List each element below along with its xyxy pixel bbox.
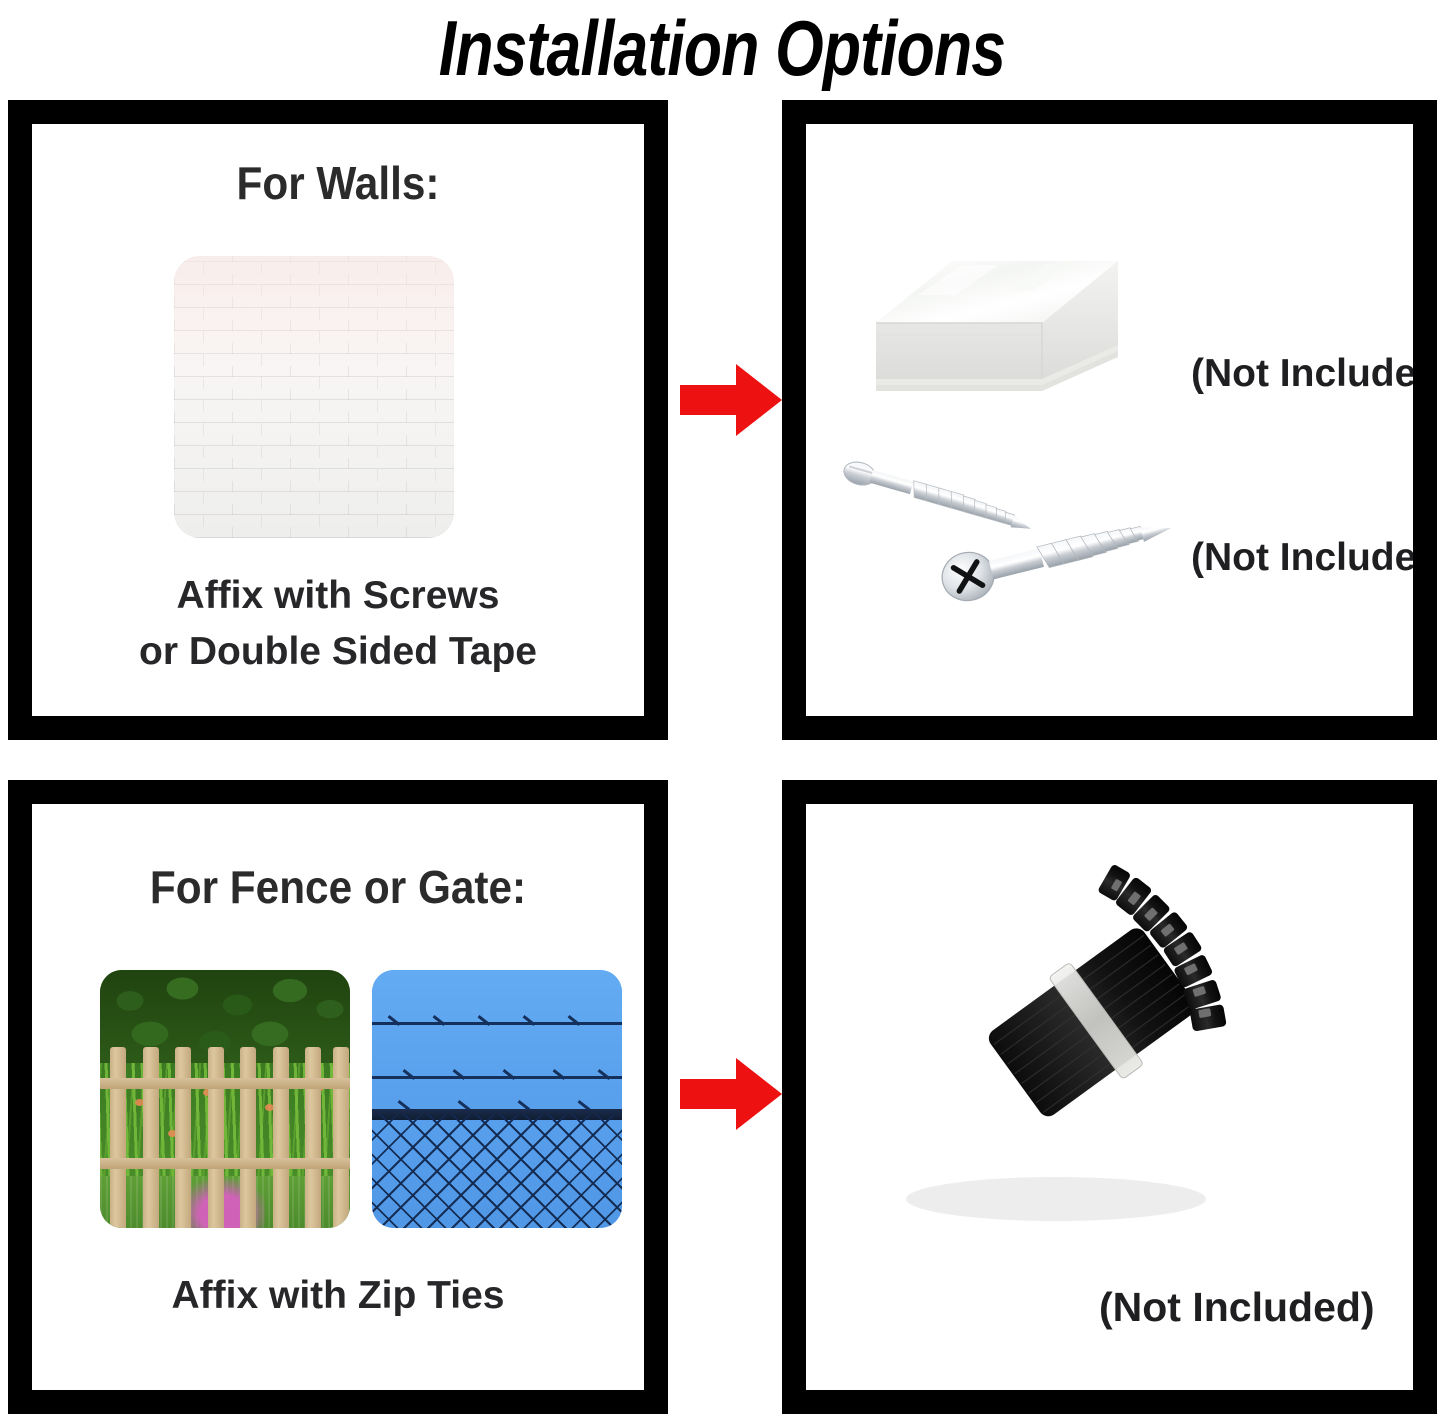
caption-affix-zip-ties: Affix with Zip Ties <box>32 1274 644 1318</box>
caption-affix-screws: Affix with Screws <box>32 574 644 618</box>
wall-warm-highlight <box>174 256 454 369</box>
fence-picket <box>333 1047 349 1228</box>
black-zip-ties-bundle-icon <box>856 859 1286 1259</box>
panel-for-walls: For Walls: Affix with Screws or Double S… <box>8 100 668 740</box>
barbed-wire-chain-link-fence-photo <box>372 970 622 1228</box>
wood-screw-icon-1 <box>841 454 1076 534</box>
page-title: Installation Options <box>439 9 1005 87</box>
fence-rail-lower <box>100 1158 350 1169</box>
panel-for-fence-content: For Fence or Gate: <box>32 804 644 1390</box>
heading-for-fence-or-gate: For Fence or Gate: <box>56 860 619 914</box>
label-tape-not-included: (Not Included) <box>1191 352 1413 396</box>
fence-picket <box>273 1047 289 1228</box>
wooden-picket-fence-photo <box>100 970 350 1228</box>
white-brick-wall-swatch <box>174 256 454 538</box>
panel-fence-hardware: (Not Included) <box>782 780 1437 1414</box>
arrow-fence-to-parts-icon <box>676 1052 786 1136</box>
double-sided-tape-stack-icon <box>866 239 1136 414</box>
fence-picket <box>240 1047 256 1228</box>
panel-for-walls-content: For Walls: Affix with Screws or Double S… <box>32 124 644 716</box>
fence-picket <box>143 1047 159 1228</box>
fence-rail-upper <box>100 1078 350 1089</box>
panel-for-fence-or-gate: For Fence or Gate: <box>8 780 668 1414</box>
panel-fence-hardware-content: (Not Included) <box>806 804 1413 1390</box>
fence-picket <box>175 1047 191 1228</box>
panel-wall-hardware: (Not Included) <box>782 100 1437 740</box>
caption-double-sided-tape: or Double Sided Tape <box>32 630 644 674</box>
chain-link-mesh <box>372 1114 622 1228</box>
label-screws-not-included: (Not Included) <box>1191 536 1413 580</box>
title-bar: Installation Options <box>0 0 1445 96</box>
heading-for-walls: For Walls: <box>56 156 619 210</box>
fence-picket <box>305 1047 321 1228</box>
label-zip-ties-not-included: (Not Included) <box>1099 1284 1375 1331</box>
wood-screw-icon-2 <box>936 524 1186 614</box>
barbed-wire-strand <box>372 1022 622 1025</box>
arrow-walls-to-parts-icon <box>676 358 786 442</box>
panel-wall-hardware-content: (Not Included) <box>806 124 1413 716</box>
fence-picket <box>208 1047 224 1228</box>
fence-picket <box>110 1047 126 1228</box>
